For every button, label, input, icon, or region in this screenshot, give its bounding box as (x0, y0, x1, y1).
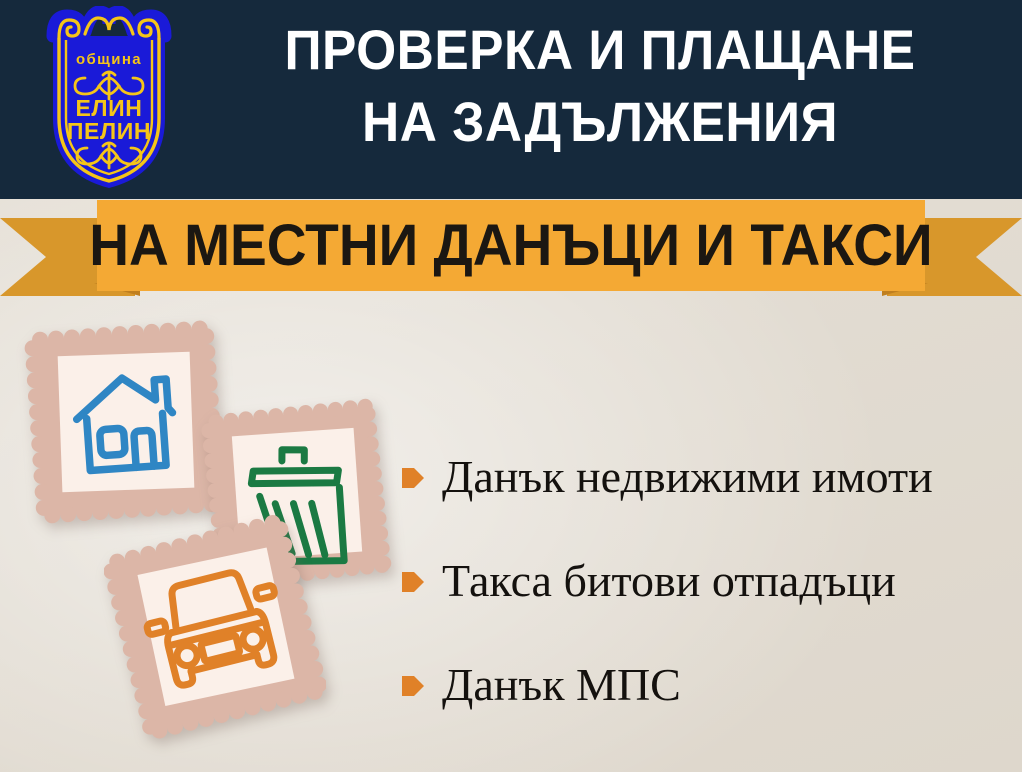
list-item-label: Такса битови отпадъци (442, 555, 896, 607)
stamp-card-group (0, 300, 420, 772)
poster-canvas: община ЕЛИН ПЕЛИН ПРОВЕРКА И ПЛАЩАНЕ НА … (0, 0, 1022, 772)
list-item[interactable]: Данък недвижими имоти (402, 425, 1014, 529)
crest-line-top: община (76, 51, 142, 68)
ribbon-banner: НА МЕСТНИ ДАНЪЦИ И ТАКСИ (0, 196, 1022, 304)
title-line-2: НА ЗАДЪЛЖЕНИЯ (227, 86, 972, 158)
poster-header: община ЕЛИН ПЕЛИН ПРОВЕРКА И ПЛАЩАНЕ НА … (0, 0, 1022, 199)
list-item-label: Данък недвижими имоти (442, 451, 933, 503)
title-line-1: ПРОВЕРКА И ПЛАЩАНЕ (227, 14, 972, 86)
list-item[interactable]: Такса битови отпадъци (402, 529, 1014, 633)
crest-line-bottom: ПЕЛИН (67, 118, 151, 144)
ribbon-label: НА МЕСТНИ ДАНЪЦИ И ТАКСИ (89, 217, 932, 275)
stamp-card-vehicle (104, 512, 326, 742)
list-item-label: Данък МПС (442, 659, 681, 711)
arrow-bullet-icon (402, 569, 424, 595)
arrow-bullet-icon (402, 673, 424, 699)
list-item[interactable]: Данък МПС (402, 633, 1014, 737)
ribbon-band: НА МЕСТНИ ДАНЪЦИ И ТАКСИ (97, 200, 925, 291)
page-title: ПРОВЕРКА И ПЛАЩАНЕ НА ЗАДЪЛЖЕНИЯ (195, 14, 1005, 158)
tax-type-list: Данък недвижими имоти Такса битови отпад… (402, 425, 1014, 737)
coat-of-arms-icon: община ЕЛИН ПЕЛИН (33, 6, 185, 192)
arrow-bullet-icon (402, 465, 424, 491)
